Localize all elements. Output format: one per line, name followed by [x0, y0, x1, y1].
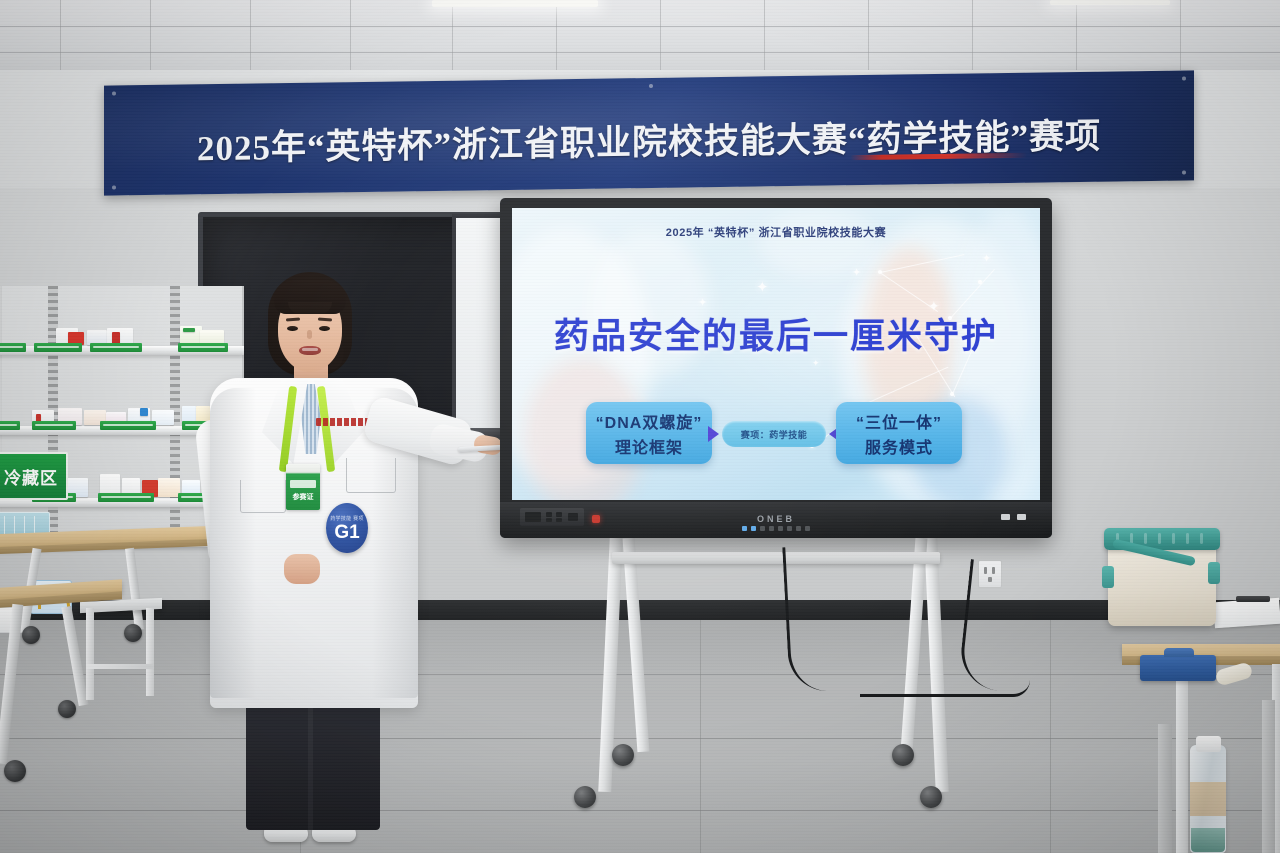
hair-fringe [274, 280, 346, 314]
slide-card-right-line2: 服务模式 [865, 434, 933, 458]
record-sheet [1213, 598, 1280, 629]
ceiling-light [1050, 0, 1170, 5]
bottle-cap [1196, 736, 1221, 752]
ceiling [0, 0, 1280, 78]
cold-storage-label: 冷藏区 [4, 464, 58, 489]
competitor-badge-code: G1 [334, 523, 359, 542]
eye-left [287, 326, 298, 331]
display-bezel: ONEB [500, 502, 1052, 538]
trousers [246, 694, 380, 830]
cold-storage-sign: 冷藏区 [0, 452, 68, 500]
nose [307, 330, 312, 339]
power-cable [782, 543, 873, 693]
display-screen[interactable]: ✦ ✦ ✦ ✦ ✦ ✦ 2025年 “英特杯” 浙江省职业院校技能大赛 药品安全… [512, 208, 1040, 500]
competitor-number-badge: 药学技能 赛项 G1 [326, 503, 368, 553]
banner-highlight: “药学技能” [848, 109, 1029, 163]
io-port-panel[interactable] [520, 508, 584, 526]
display-control-buttons[interactable] [742, 526, 810, 531]
presentation-slide: ✦ ✦ ✦ ✦ ✦ ✦ 2025年 “英特杯” 浙江省职业院校技能大赛 药品安全… [512, 208, 1040, 500]
slide-header: 2025年 “英特杯” 浙江省职业院校技能大赛 [512, 224, 1040, 240]
medicine-box [140, 408, 148, 416]
coat-chest-logo [316, 418, 370, 426]
io-ports-right[interactable] [1001, 514, 1026, 520]
hand-left [284, 554, 320, 584]
instrument-case-handle[interactable] [1164, 648, 1194, 657]
power-led-icon [592, 515, 600, 523]
slide-center-pill: 赛项：药学技能 [722, 421, 826, 447]
mouth [299, 346, 321, 355]
slide-card-right: “三位一体” 服务模式 [836, 402, 962, 464]
display-brand-logo: ONEB [757, 514, 795, 524]
classroom-scene: 2025年“英特杯”浙江省职业院校技能大赛“药学技能”赛项 [0, 0, 1280, 853]
cooler-latch-left[interactable] [1102, 566, 1114, 588]
slide-center-pill-label: 赛项：药学技能 [741, 428, 808, 441]
wall-outlet [978, 560, 1002, 588]
cooler-latch-right[interactable] [1208, 562, 1220, 584]
ceiling-light [432, 0, 598, 7]
slide-card-left-line1: “DNA双螺旋” [596, 409, 703, 433]
slide-card-left-line2: 理论框架 [615, 434, 683, 458]
arrow-right-icon [708, 426, 719, 442]
instrument-case [1140, 655, 1216, 681]
interactive-flat-panel[interactable]: ✦ ✦ ✦ ✦ ✦ ✦ 2025年 “英特杯” 浙江省职业院校技能大赛 药品安全… [500, 198, 1052, 538]
banner-text-after: 赛项 [1029, 117, 1101, 157]
slide-card-right-line1: “三位一体” [856, 409, 942, 433]
medicine-box [183, 328, 195, 332]
id-badge: 参赛证 [286, 464, 320, 510]
competitor-badge-caption: 药学技能 赛项 [330, 515, 364, 522]
id-badge-label: 参赛证 [286, 492, 320, 502]
eye-right [319, 326, 330, 331]
event-banner: 2025年“英特杯”浙江省职业院校技能大赛“药学技能”赛项 [104, 70, 1194, 195]
clipboard-clip [1236, 596, 1270, 602]
presenter: 参赛证 药学技能 赛项 G1 [206, 268, 422, 808]
slide-card-left: “DNA双螺旋” 理论框架 [586, 402, 712, 464]
medicine-box [158, 478, 180, 497]
slide-title: 药品安全的最后一厘米守护 [512, 308, 1040, 359]
banner-text-before: 2025年“英特杯”浙江省职业院校技能大赛 [197, 120, 848, 168]
banner-title: 2025年“英特杯”浙江省职业院校技能大赛“药学技能”赛项 [104, 106, 1194, 172]
